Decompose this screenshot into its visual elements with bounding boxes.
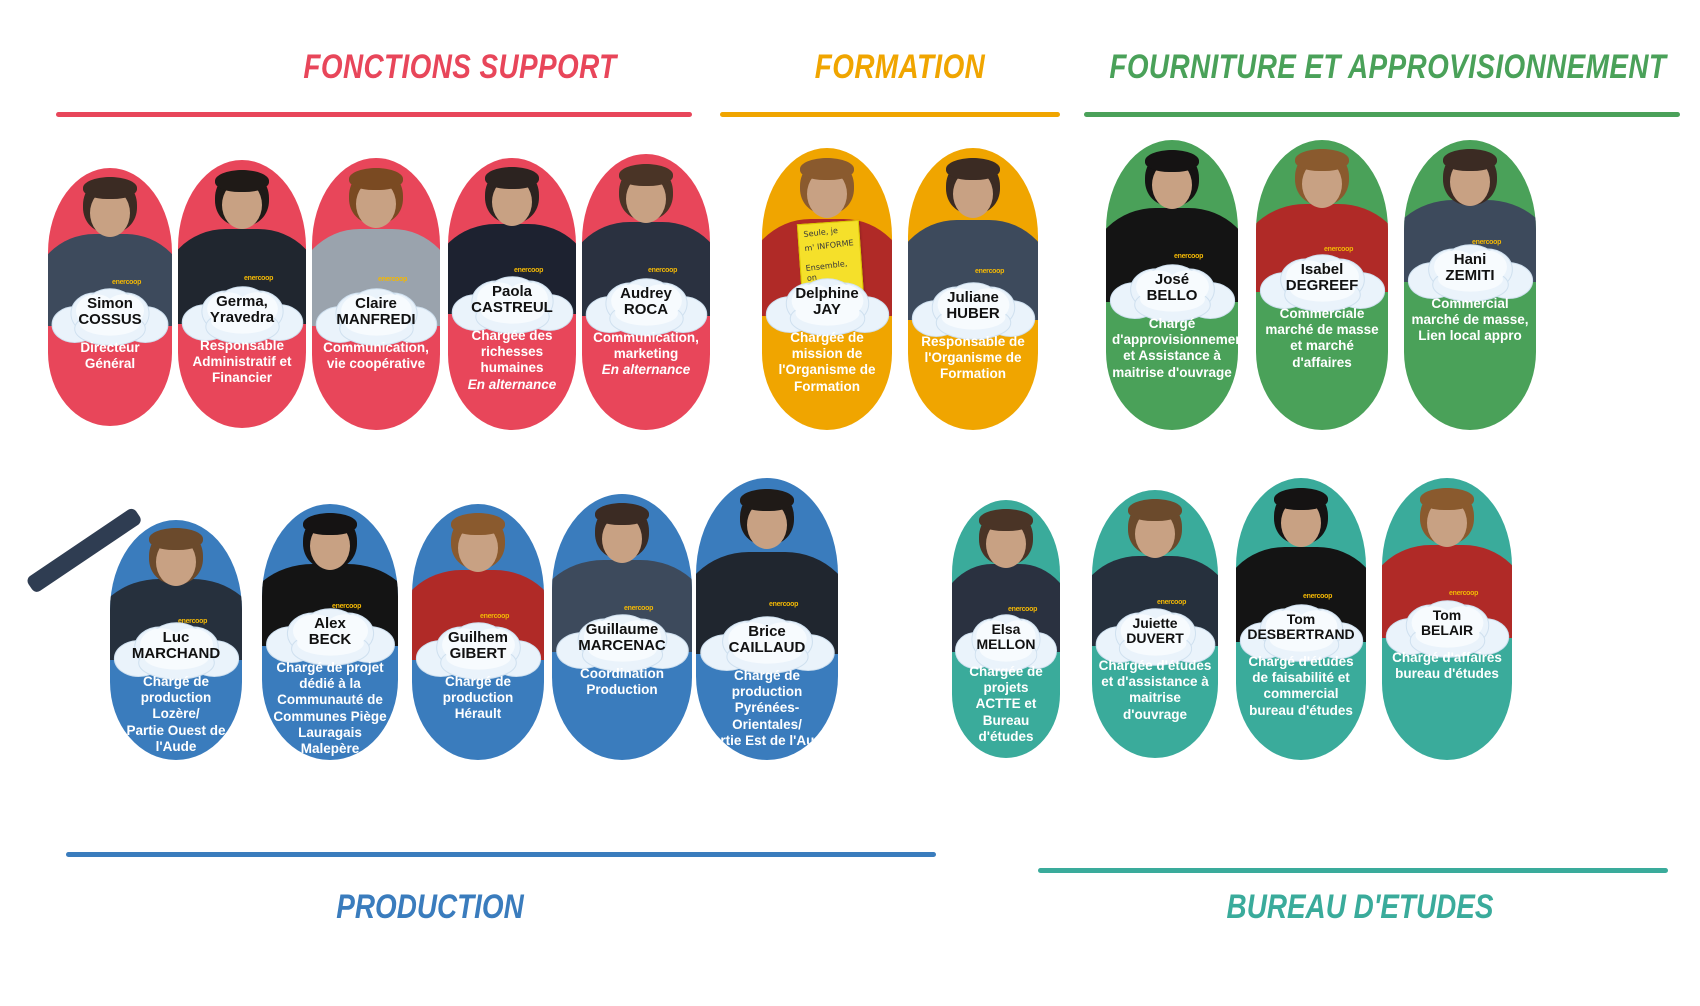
person-role: CoordinationProduction (558, 666, 686, 698)
person-role: Chargéd'approvisionnementet Assistance à… (1112, 316, 1232, 381)
enercoop-logo: enercoop (1157, 599, 1186, 606)
person-last-name: CASTREUL (448, 300, 576, 316)
person-last-name: Yravedra (178, 310, 306, 326)
person-role: Communication,marketingEn alternance (588, 330, 704, 379)
enercoop-logo: enercoop (1303, 593, 1332, 600)
person-name: LucMARCHAND (110, 630, 242, 662)
sign-line-2: m' INFORME (804, 238, 855, 254)
person-role-line: Général (54, 356, 166, 372)
person-last-name: MARCENAC (552, 638, 692, 654)
person-last-name: BELAIR (1382, 623, 1512, 638)
person-role-line: d'approvisionnement (1112, 332, 1232, 348)
person-first-name: Juiette (1132, 615, 1177, 631)
person-role: Chargée demission del'Organisme deFormat… (768, 330, 886, 395)
person-name: JoséBELLO (1106, 272, 1238, 304)
person-role: Commercialmarché de masse,Lien local app… (1410, 296, 1530, 345)
person-last-name: ROCA (582, 302, 710, 318)
person-name: DelphineJAY (762, 286, 892, 318)
person-role-line: Formation (914, 366, 1032, 382)
person-name: AlexBECK (262, 616, 398, 648)
person-role-line: bureau d'études (1388, 666, 1506, 682)
person-name: Germa,Yravedra (178, 294, 306, 326)
person-card[interactable]: enercoop JuietteDUVERTChargée d'étudeset… (1092, 490, 1218, 758)
person-last-name: BECK (262, 632, 398, 648)
person-role-line: Communauté de (268, 692, 392, 708)
person-name: GuilhemGIBERT (412, 630, 544, 662)
person-role-line: Lauragais (268, 725, 392, 741)
person-role: Commercialemarché de masseet marchéd'aff… (1262, 306, 1382, 371)
person-first-name: Juliane (947, 289, 999, 306)
person-role: Chargé d'étudesde faisabilité etcommerci… (1242, 654, 1360, 719)
person-role: DirecteurGénéral (54, 340, 166, 372)
person-role-line: l'Organisme de (914, 350, 1032, 366)
person-role: Responsable del'Organisme deFormation (914, 334, 1032, 383)
person-role: Chargée desrichesseshumainesEn alternanc… (454, 328, 570, 393)
person-name: JuietteDUVERT (1092, 616, 1218, 646)
person-role: Chargé d'affairesbureau d'études (1388, 650, 1506, 682)
person-role-line: et d'assistance à (1098, 674, 1212, 690)
person-card[interactable]: enercoop TomDESBERTRANDChargé d'étudesde… (1236, 478, 1366, 760)
person-role-line: production Lozère/ (116, 690, 236, 722)
person-role-line: production (418, 690, 538, 706)
person-last-name: DEGREEF (1256, 278, 1388, 294)
person-role-line: Financier (184, 370, 300, 386)
person-first-name: Audrey (620, 285, 672, 302)
person-role-note: En alternance (454, 377, 570, 393)
person-last-name: MARCHAND (110, 646, 242, 662)
person-last-name: BELLO (1106, 288, 1238, 304)
person-role-line: Hérault (418, 706, 538, 722)
person-name: AudreyROCA (582, 286, 710, 318)
person-role-line: Commercial (1410, 296, 1530, 312)
sign-line-1: Seule, je (803, 224, 854, 240)
person-role-line: bureau d'études (1242, 703, 1360, 719)
person-role: Chargée deprojetsACTTE etBureau d'études (958, 664, 1054, 745)
person-name: ElsaMELLON (952, 622, 1060, 652)
person-role-line: Chargé de (418, 674, 538, 690)
person-last-name: DESBERTRAND (1236, 627, 1366, 642)
person-role-line: Communication, (588, 330, 704, 346)
person-name: TomBELAIR (1382, 608, 1512, 638)
person-first-name: Isabel (1301, 261, 1344, 278)
person-last-name: MANFREDI (312, 312, 440, 328)
person-role-line: Chargée de (768, 330, 886, 346)
person-role-line: et Assistance à (1112, 348, 1232, 364)
person-role-line: vie coopérative (318, 356, 434, 372)
person-role-line: Chargé de production (702, 668, 832, 700)
person-role: Chargé de projetdédié à laCommunauté deC… (268, 660, 392, 757)
person-first-name: Tom (1287, 611, 1316, 627)
person-last-name: JAY (762, 302, 892, 318)
person-name: SimonCOSSUS (48, 296, 172, 328)
person-last-name: HUBER (908, 306, 1038, 322)
person-role-line: Formation (768, 379, 886, 395)
person-role-line: Chargée des (454, 328, 570, 344)
person-first-name: Guilhem (448, 629, 508, 646)
person-role: Chargé deproductionHérault (418, 674, 538, 723)
person-first-name: Paola (492, 283, 532, 300)
person-role-line: Pyrénées-Orientales/ (702, 700, 832, 732)
person-role-line: Responsable (184, 338, 300, 354)
person-role-line: Partie Ouest de (116, 723, 236, 739)
person-role-line: Directeur (54, 340, 166, 356)
person-card[interactable]: enercoop ElsaMELLONChargée deprojetsACTT… (952, 500, 1060, 758)
person-first-name: Delphine (795, 285, 858, 302)
person-name: JulianeHUBER (908, 290, 1038, 322)
person-role: Communication,vie coopérative (318, 340, 434, 372)
person-role-line: Malepère (268, 741, 392, 757)
group-bureau: enercoop ElsaMELLONChargée deprojetsACTT… (0, 0, 1700, 1006)
person-role-line: l'Aude (116, 739, 236, 755)
person-role-line: marché de masse (1262, 322, 1382, 338)
person-card[interactable]: enercoop TomBELAIRChargé d'affairesburea… (1382, 478, 1512, 760)
person-role-line: commercial (1242, 686, 1360, 702)
person-role: Chargé de productionPyrénées-Orientales/… (702, 668, 832, 749)
person-first-name: Brice (748, 623, 786, 640)
person-role-line: Commerciale (1262, 306, 1382, 322)
person-name: HaniZEMITI (1404, 252, 1536, 284)
person-first-name: Guillaume (586, 621, 659, 638)
person-role-line: Production (558, 682, 686, 698)
person-role-line: ACTTE et (958, 696, 1054, 712)
person-first-name: Tom (1433, 607, 1462, 623)
person-role-line: Responsable de (914, 334, 1032, 350)
person-first-name: Germa, (216, 293, 268, 310)
person-first-name: Luc (163, 629, 190, 646)
person-name: PaolaCASTREUL (448, 284, 576, 316)
person-name: TomDESBERTRAND (1236, 612, 1366, 642)
person-first-name: José (1155, 271, 1189, 288)
person-role-line: Chargé de (116, 674, 236, 690)
person-role-line: marché de masse, (1410, 312, 1530, 328)
person-last-name: ZEMITI (1404, 268, 1536, 284)
person-last-name: MELLON (952, 637, 1060, 652)
person-name: BriceCAILLAUD (696, 624, 838, 656)
person-role-line: et marché (1262, 338, 1382, 354)
person-name: GuillaumeMARCENAC (552, 622, 692, 654)
person-last-name: CAILLAUD (696, 640, 838, 656)
enercoop-logo: enercoop (1449, 590, 1478, 597)
org-chart-board: FONCTIONS SUPPORT FORMATION FOURNITURE E… (0, 0, 1700, 1006)
person-role-line: Communication, (318, 340, 434, 356)
person-role-line: Chargé d'études (1242, 654, 1360, 670)
person-role-line: Chargée d'études (1098, 658, 1212, 674)
person-role-line: Bureau d'études (958, 713, 1054, 745)
person-role-line: Chargé de projet (268, 660, 392, 676)
person-role-line: Lien local appro (1410, 328, 1530, 344)
person-role-line: Communes Piège (268, 709, 392, 725)
person-first-name: Alex (314, 615, 346, 632)
person-role-line: humaines (454, 360, 570, 376)
person-role-line: marketing (588, 346, 704, 362)
person-role-line: Coordination (558, 666, 686, 682)
person-role-note: En alternance (588, 362, 704, 378)
person-first-name: Hani (1454, 251, 1487, 268)
person-name: IsabelDEGREEF (1256, 262, 1388, 294)
person-role: Chargé deproduction Lozère/Partie Ouest … (116, 674, 236, 755)
person-role-line: de faisabilité et (1242, 670, 1360, 686)
person-role-line: d'affaires (1262, 355, 1382, 371)
person-role-line: maitrise d'ouvrage (1098, 690, 1212, 722)
person-role: ResponsableAdministratif etFinancier (184, 338, 300, 387)
person-role-line: Partie Est de l'Aude (702, 733, 832, 749)
person-role-line: projets (958, 680, 1054, 696)
person-role: Chargée d'étudeset d'assistance àmaitris… (1098, 658, 1212, 723)
person-last-name: DUVERT (1092, 631, 1218, 646)
person-first-name: Simon (87, 295, 133, 312)
person-role-line: richesses (454, 344, 570, 360)
person-first-name: Elsa (992, 621, 1021, 637)
person-last-name: COSSUS (48, 312, 172, 328)
person-role-line: l'Organisme de (768, 362, 886, 378)
person-role-line: Chargée de (958, 664, 1054, 680)
person-role-line: mission de (768, 346, 886, 362)
person-role-line: dédié à la (268, 676, 392, 692)
person-last-name: GIBERT (412, 646, 544, 662)
person-role-line: Chargé d'affaires (1388, 650, 1506, 666)
person-name: ClaireMANFREDI (312, 296, 440, 328)
person-role-line: maitrise d'ouvrage (1112, 365, 1232, 381)
person-role-line: Administratif et (184, 354, 300, 370)
person-role-line: Chargé (1112, 316, 1232, 332)
person-first-name: Claire (355, 295, 397, 312)
